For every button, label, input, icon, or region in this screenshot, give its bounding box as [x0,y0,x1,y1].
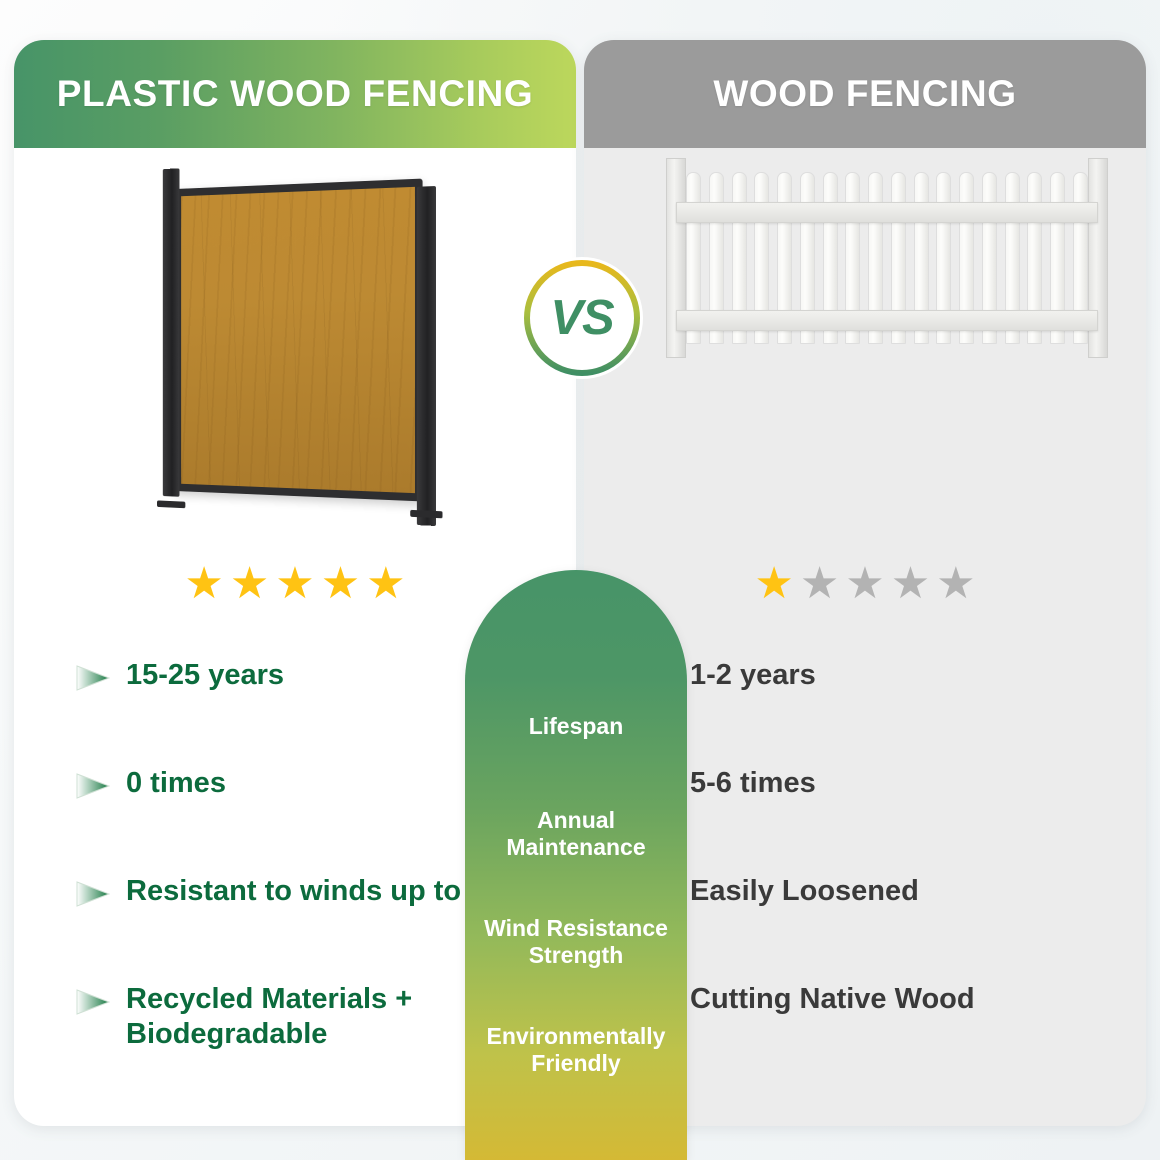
feature-label: 0 times [126,766,226,801]
criteria-column: Lifespan Annual Maintenance Wind Resista… [465,570,687,1160]
star-icon: ★ [275,562,314,606]
picket-rail-bottom-icon [676,310,1098,331]
arrow-right-icon [76,772,110,800]
star-icon: ★ [845,562,884,606]
star-icon: ★ [184,562,223,606]
fence-foot-left-icon [157,500,185,508]
fence-post-right-icon [417,186,436,526]
star-icon: ★ [366,562,405,606]
feature-label: 5-6 times [690,766,816,801]
criteria-label: Environmentally Friendly [465,996,687,1104]
feature-label: Easily Loosened [690,874,919,909]
star-icon: ★ [230,562,269,606]
vs-label: VS [550,290,613,346]
wood-fence-product-image [584,148,1146,558]
star-icon: ★ [891,562,930,606]
wood-fencing-card-header: WOOD FENCING [584,40,1146,148]
vs-badge: VS [521,257,643,379]
plastic-wood-card-header: PLASTIC WOOD FENCING [14,40,576,148]
star-icon: ★ [800,562,839,606]
rating-stars-right: ★ ★ ★ ★ ★ [584,562,1146,606]
rating-stars-left: ★ ★ ★ ★ ★ [14,562,576,606]
criteria-label: Lifespan [465,672,687,780]
feature-label: 15-25 years [126,658,284,693]
feature-label: Resistant to winds up to 8 [126,874,485,909]
page-title-right: WOOD FENCING [713,73,1016,115]
fence-frame-icon [174,179,422,502]
wood-grain-panel-icon [181,187,415,493]
criteria-label: Annual Maintenance [465,780,687,888]
fence-post-left-icon [163,168,180,496]
plastic-wood-product-image [14,148,576,558]
star-icon: ★ [936,562,975,606]
criteria-label: Wind Resistance Strength [465,888,687,996]
picket-rail-top-icon [676,202,1098,223]
star-icon: ★ [754,562,793,606]
feature-label: 1-2 years [690,658,816,693]
fence-foot-right-icon [410,510,443,518]
page-title-left: PLASTIC WOOD FENCING [57,73,534,115]
arrow-right-icon [76,664,110,692]
arrow-right-icon [76,988,110,1016]
star-icon: ★ [321,562,360,606]
feature-label: Cutting Native Wood [690,982,975,1017]
arrow-right-icon [76,880,110,908]
